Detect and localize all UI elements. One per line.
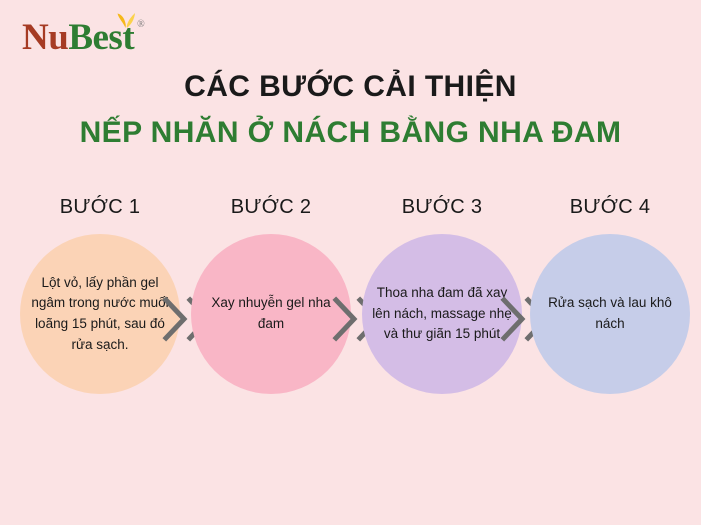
leaf-icon — [115, 9, 137, 29]
logo-text-nu: Nu — [22, 19, 68, 56]
step-4-text: Rửa sạch và lau khô nách — [530, 293, 690, 334]
step-4-circle: Rửa sạch và lau khô nách — [530, 234, 690, 394]
step-1-text: Lột vỏ, lấy phần gel ngâm trong nước muố… — [20, 273, 180, 355]
step-2-label: BƯỚC 2 — [183, 196, 359, 226]
step-3: BƯỚC 3 Thoa nha đam đã xay lên nách, mas… — [354, 196, 530, 394]
step-3-label: BƯỚC 3 — [354, 196, 530, 226]
page-title-line-1: CÁC BƯỚC CẢI THIỆN — [0, 70, 701, 104]
logo-text-best: Best — [68, 19, 134, 56]
page-title-line-2: NẾP NHĂN Ở NÁCH BẰNG NHA ĐAM — [0, 116, 701, 150]
step-2: BƯỚC 2 Xay nhuyễn gel nha đam — [183, 196, 359, 394]
step-2-circle: Xay nhuyễn gel nha đam — [191, 234, 351, 394]
step-1-label: BƯỚC 1 — [12, 196, 188, 226]
nubest-logo: Nu Best ® — [22, 14, 145, 56]
step-3-text: Thoa nha đam đã xay lên nách, massage nh… — [362, 283, 522, 345]
step-2-text: Xay nhuyễn gel nha đam — [191, 293, 351, 334]
step-4: BƯỚC 4 Rửa sạch và lau khô nách — [522, 196, 698, 394]
step-1: BƯỚC 1 Lột vỏ, lấy phần gel ngâm trong n… — [12, 196, 188, 394]
step-1-circle: Lột vỏ, lấy phần gel ngâm trong nước muố… — [20, 234, 180, 394]
infographic-canvas: Nu Best ® CÁC BƯỚC CẢI THIỆN NẾP NHĂN Ở … — [0, 0, 701, 525]
step-4-label: BƯỚC 4 — [522, 196, 698, 226]
registered-trademark-icon: ® — [137, 20, 145, 30]
step-3-circle: Thoa nha đam đã xay lên nách, massage nh… — [362, 234, 522, 394]
